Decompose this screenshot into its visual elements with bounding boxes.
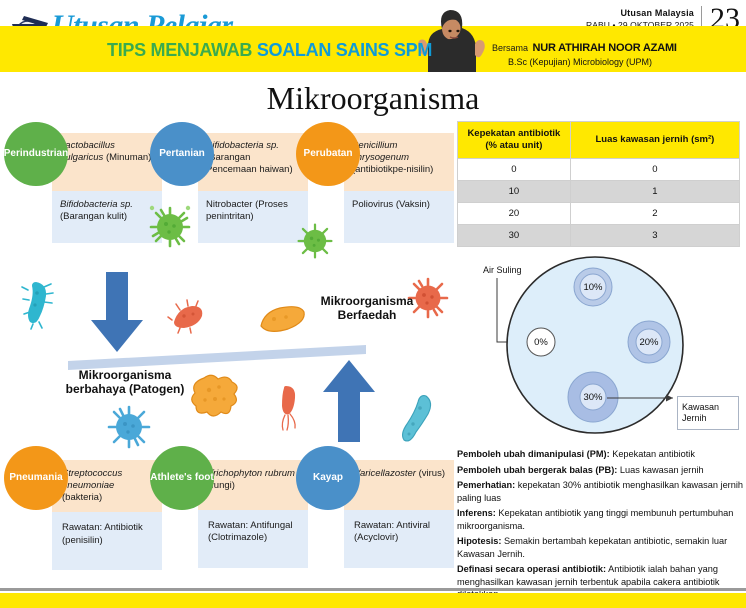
results-table: Kepekatan antibiotik (% atau unit) Luas … [457,121,740,247]
bubble-label: Pneumania [9,472,62,484]
note-text: Kepekatan antibiotik yang tinggi membunu… [457,508,733,530]
note-item: Hipotesis: Semakin bertambah kepekatan a… [457,535,743,559]
cell-kepekatan: 30 [458,224,571,246]
species-note: (antibiotikpe-nisilin) [352,164,433,175]
bubble-pertanian: Pertanian [150,122,214,186]
bubble-label: Pertanian [159,148,205,160]
card-bottom-cell: Nitrobacter (Proses penintritan) [198,191,308,243]
table-row: 0 0 [458,158,740,180]
card-bottom-cell: Rawatan: Antiviral (Acyclovir) [344,510,454,568]
bubble-perubatan: Perubatan [296,122,360,186]
label-line-2: berbahaya (Patogen) [40,382,210,396]
card-bottom-cell: Rawatan: Antibiotik (penisilin) [52,512,162,570]
note-label: Pemboleh ubah dimanipulasi (PM): [457,449,610,459]
tagline: TIPS MENJAWAB SOALAN SAINS SPM [107,40,432,61]
species-name: Bifidobacteria sp. [60,199,133,210]
cell-kepekatan: 20 [458,202,571,224]
card-pertanian: Bifidobacteria sp. (Barangan Pencemaan h… [198,133,308,243]
species-name: Varicellazoster [354,468,416,479]
down-arrow-harmful [88,272,146,354]
footer-divider [0,588,746,591]
amoeba-icon-orange [188,372,242,420]
kawasan-line-2: Jernih [682,413,734,424]
note-label: Pemboleh ubah bergerak balas (PB): [457,465,617,475]
label-air-suling: Air Suling [483,265,522,275]
label-kawasan-jernih: Kawasan Jernih [677,396,739,430]
card-pneumania: Streptococcus pneumoniae (bakteria) Rawa… [52,460,162,570]
bacteria-icon-teal-rod [400,392,436,450]
species-name: Bifidobacteria sp. [206,140,279,151]
bubble-label: Kayap [313,472,343,484]
note-label: Inferens: [457,508,496,518]
note-label: Definasi secara operasi antibiotik: [457,564,606,574]
note-label: Hipotesis: [457,536,501,546]
footer-band [0,593,746,608]
virus-icon-green-2 [296,222,334,260]
card-top-cell: Lactobacillus bulgaricus (Minuman) [52,133,162,191]
note-label: Pemerhatian: [457,480,515,490]
notes-block: Pemboleh ubah dimanipulasi (PM): Kepekat… [457,448,743,604]
species-name: Penicillium chrysogenum [352,140,409,163]
table-row: 20 2 [458,202,740,224]
page-title: Mikroorganisma [0,80,746,117]
species-note: Poliovirus (Vaksin) [352,199,430,210]
treatment-note: Rawatan: Antiviral (Acyclovir) [354,520,430,543]
presenter-credentials: B.Sc (Kepujian) Microbiology (UPM) [508,57,677,67]
note-item: Pemboleh ubah dimanipulasi (PM): Kepekat… [457,448,743,460]
bubble-label: Perubatan [304,148,353,160]
bacteria-icon-teal [22,278,56,330]
card-bottom-cell: Bifidobacteria sp. (Barangan kulit) [52,191,162,243]
species-note: (Minuman) [103,152,151,163]
species-note: (Barangan Pencemaan haiwan) [206,152,293,175]
bubble-pneumania: Pneumania [4,446,68,510]
kawasan-line-1: Kawasan [682,402,734,413]
species-name: Streptococcus pneumoniae [62,468,122,491]
species-note: (Barangan kulit) [60,211,127,222]
species-note: (virus) [416,468,445,479]
card-top-cell: Varicellazoster (virus) [344,460,454,510]
cell-kepekatan: 0 [458,158,571,180]
virus-icon-blue [106,404,152,450]
card-bottom-cell: Poliovirus (Vaksin) [344,191,454,243]
cell-luas: 3 [570,224,739,246]
card-kayap: Varicellazoster (virus) Rawatan: Antivir… [344,460,454,568]
bubble-athletes-foot: Athlete's foot [150,446,214,510]
svg-text:30%: 30% [583,392,603,403]
species-note: Nitrobacter (Proses penintritan) [206,199,288,222]
label-line-1: Mikroorganisma [302,294,432,308]
table-header-row: Kepekatan antibiotik (% atau unit) Luas … [458,122,740,159]
note-item: Pemboleh ubah bergerak balas (PB): Luas … [457,464,743,476]
cell-kepekatan: 10 [458,180,571,202]
table-row: 30 3 [458,224,740,246]
masthead: Utusan Pelajar Utusan Malaysia RABU • 29… [0,0,746,72]
species-note: (bakteria) [62,492,102,503]
bubble-kayap: Kayap [296,446,360,510]
column-header-kepekatan: Kepekatan antibiotik (% atau unit) [458,122,571,159]
table-row: 10 1 [458,180,740,202]
svg-text:20%: 20% [639,337,659,348]
svg-text:0%: 0% [534,337,548,348]
label-line-2: Berfaedah [302,308,432,322]
publication-name: Utusan Malaysia [586,8,694,18]
cell-luas: 1 [570,180,739,202]
treatment-note: Rawatan: Antifungal (Clotrimazole) [208,520,293,543]
card-bottom-cell: Rawatan: Antifungal (Clotrimazole) [198,510,308,568]
card-top-cell: Penicillium chrysogenum (antibiotikpe-ni… [344,133,454,191]
presenter-name: NUR ATHIRAH NOOR AZAMI [532,42,676,54]
note-item: Inferens: Kepekatan antibiotik yang ting… [457,507,743,531]
bubble-label: Perindustrian [4,148,68,160]
card-perubatan: Penicillium chrysogenum (antibiotikpe-ni… [344,133,454,243]
column-header-luas: Luas kawasan jernih (sm²) [570,122,739,159]
card-top-cell: Streptococcus pneumoniae (bakteria) [52,460,162,512]
bubble-label: Athlete's foot [150,472,214,484]
tagline-light: TIPS MENJAWAB [107,40,257,60]
up-arrow-beneficial [320,358,378,444]
label-line-1: Mikroorganisma [40,368,210,382]
bacteria-icon-red-2 [276,382,304,432]
presenter-with-label: Bersama [492,43,528,53]
card-top-cell: Bifidobacteria sp. (Barangan Pencemaan h… [198,133,308,191]
species-name: Trichophyton rubrum [208,468,295,479]
svg-text:10%: 10% [583,282,603,293]
virus-icon-green-1 [148,205,192,249]
note-text: Luas kawasan jernih [617,465,703,475]
card-perindustrian: Lactobacillus bulgaricus (Minuman) Bifid… [52,133,162,243]
label-mikroorganisma-berfaedah: Mikroorganisma Berfaedah [302,294,432,323]
treatment-note: Rawatan: Antibiotik (penisilin) [62,522,143,545]
card-athletes-foot: Trichophyton rubrum (fungi) Rawatan: Ant… [198,460,308,568]
presenter-photo [398,2,494,72]
bubble-perindustrian: Perindustrian [4,122,68,186]
bacteria-icon-red-1 [168,300,208,334]
label-mikroorganisma-berbahaya: Mikroorganisma berbahaya (Patogen) [40,368,210,397]
bacteria-icon-orange-rod [256,302,308,338]
note-text: Kepekatan antibiotik [610,449,695,459]
tagline-bold: SOALAN SAINS SPM [257,40,432,60]
card-top-cell: Trichophyton rubrum (fungi) [198,460,308,510]
cell-luas: 2 [570,202,739,224]
presenter-block: Bersama NUR ATHIRAH NOOR AZAMI B.Sc (Kep… [492,38,677,67]
note-item: Pemerhatian: kepekatan 30% antibiotik me… [457,479,743,503]
cell-luas: 0 [570,158,739,180]
